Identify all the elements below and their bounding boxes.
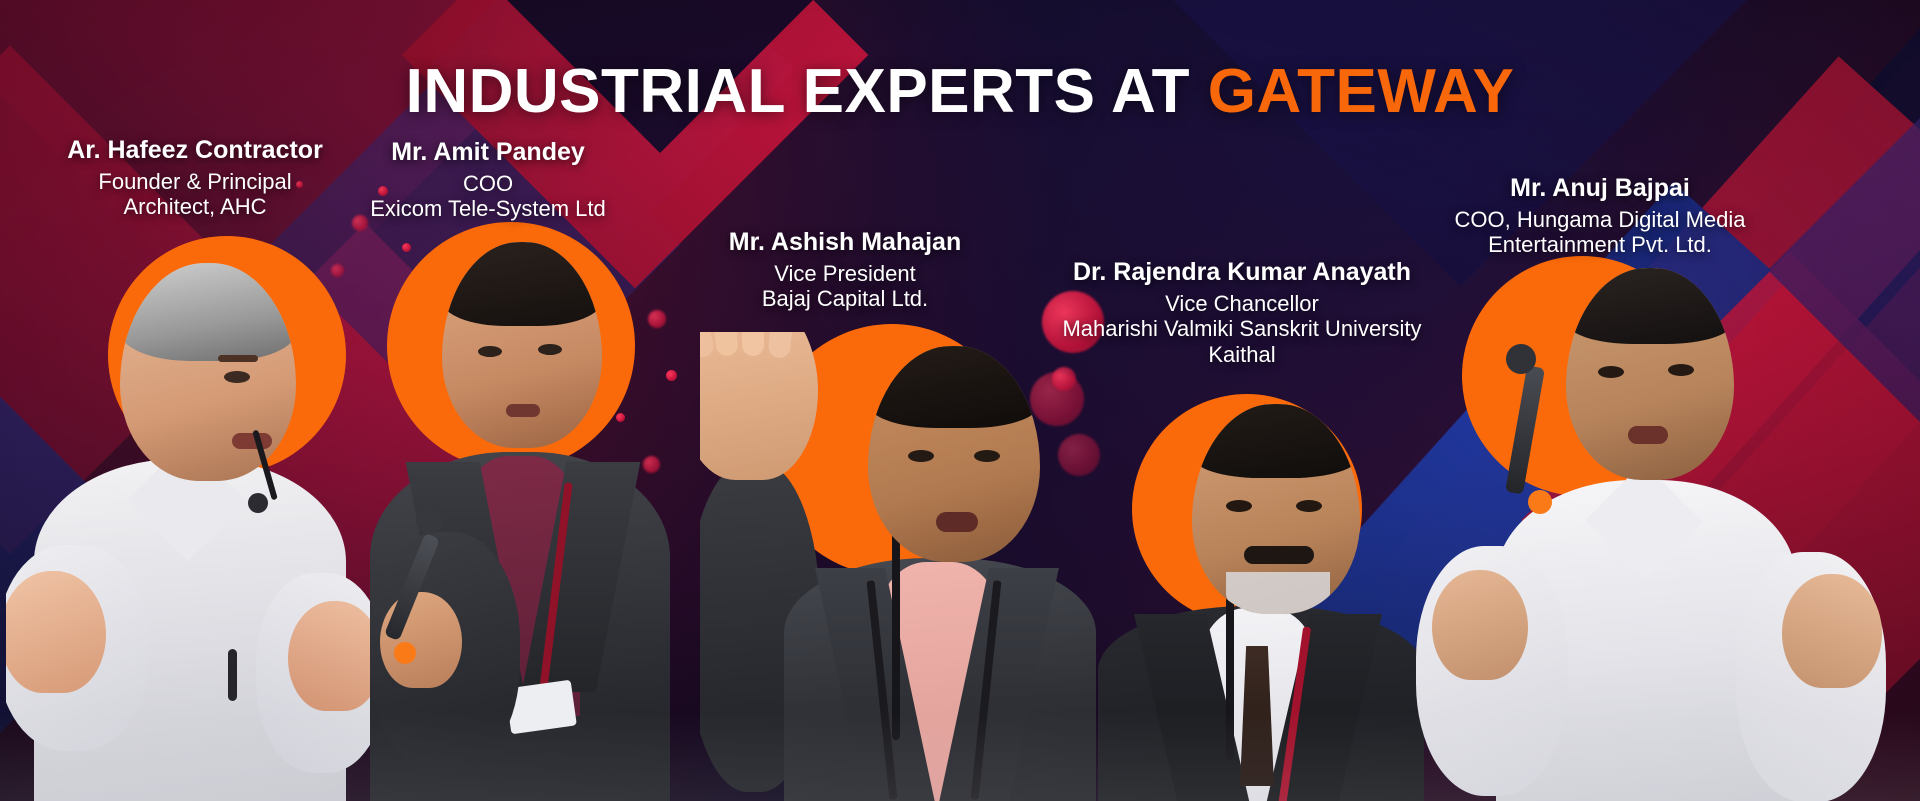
event-banner: INDUSTRIAL EXPERTS AT GATEWAY Ar. Hafeez… bbox=[0, 0, 1920, 801]
photo-microphone-head bbox=[416, 508, 442, 534]
photo-hair bbox=[442, 242, 602, 326]
speaker-name: Mr. Ashish Mahajan bbox=[645, 228, 1045, 258]
speaker-name: Mr. Anuj Bajpai bbox=[1400, 174, 1800, 204]
photo-eye-left bbox=[1598, 366, 1624, 378]
photo-lapel-pen bbox=[228, 649, 237, 701]
speaker-role-line-1: COO bbox=[288, 171, 688, 197]
photo-eye-left bbox=[1226, 500, 1252, 512]
photo-head bbox=[1192, 404, 1360, 614]
photo-hand-right bbox=[1782, 574, 1882, 688]
speaker-role-line-1: Vice Chancellor bbox=[1018, 291, 1466, 317]
speaker-caption-rajendra-kumar-anayath: Dr. Rajendra Kumar Anayath Vice Chancell… bbox=[1018, 258, 1466, 368]
photo-hand-left bbox=[1432, 570, 1528, 680]
banner-title: INDUSTRIAL EXPERTS AT GATEWAY bbox=[0, 56, 1920, 127]
speaker-photo-amit-pandey bbox=[356, 232, 696, 801]
photo-eye-right bbox=[1668, 364, 1694, 376]
speaker-caption-ashish-mahajan: Mr. Ashish Mahajan Vice President Bajaj … bbox=[645, 228, 1045, 312]
photo-mouth bbox=[232, 433, 272, 449]
photo-eye-right bbox=[1296, 500, 1322, 512]
photo-moustache bbox=[1244, 546, 1314, 564]
speaker-photo-rajendra-kumar-anayath bbox=[1064, 400, 1436, 801]
speaker-caption-amit-pandey: Mr. Amit Pandey COO Exicom Tele-System L… bbox=[288, 138, 688, 222]
photo-microphone bbox=[1505, 365, 1545, 494]
speaker-role-line-1: Vice President bbox=[645, 261, 1045, 287]
speaker-name: Mr. Amit Pandey bbox=[288, 138, 688, 168]
photo-mouth bbox=[936, 512, 978, 532]
photo-hand-left bbox=[6, 571, 106, 693]
photo-head bbox=[442, 242, 602, 448]
speaker-role-line-2: Maharishi Valmiki Sanskrit University bbox=[1018, 316, 1466, 342]
speaker-caption-anuj-bajpai: Mr. Anuj Bajpai COO, Hungama Digital Med… bbox=[1400, 174, 1800, 258]
title-accent-text: GATEWAY bbox=[1208, 57, 1515, 126]
photo-hair bbox=[1566, 268, 1734, 344]
speaker-role-line-1: COO, Hungama Digital Media bbox=[1400, 207, 1800, 233]
photo-headset-mic-capsule bbox=[248, 493, 268, 513]
photo-mic-tip bbox=[1528, 490, 1552, 514]
photo-mic-tip bbox=[394, 642, 416, 664]
photo-mouth bbox=[506, 404, 540, 417]
photo-finger bbox=[742, 332, 764, 356]
speaker-role-line-2: Exicom Tele-System Ltd bbox=[288, 196, 688, 222]
photo-eye-left bbox=[908, 450, 934, 462]
speaker-role-line-2: Entertainment Pvt. Ltd. bbox=[1400, 232, 1800, 258]
photo-eye bbox=[224, 371, 250, 383]
photo-head bbox=[1566, 268, 1734, 480]
photo-mouth bbox=[1628, 426, 1668, 444]
photo-head bbox=[868, 346, 1040, 562]
photo-beard bbox=[1226, 572, 1330, 614]
speaker-name: Dr. Rajendra Kumar Anayath bbox=[1018, 258, 1466, 288]
speaker-photo-anuj-bajpai bbox=[1406, 262, 1892, 801]
speaker-role-line-2: Bajaj Capital Ltd. bbox=[645, 286, 1045, 312]
photo-brow bbox=[218, 355, 258, 362]
speaker-role-line-3: Kaithal bbox=[1018, 342, 1466, 368]
photo-eye-right bbox=[974, 450, 1000, 462]
photo-eye-left bbox=[478, 346, 502, 357]
speaker-photo-ashish-mahajan bbox=[700, 332, 1096, 801]
photo-hair bbox=[120, 263, 296, 361]
speaker-photo-hafeez-contractor bbox=[6, 245, 386, 801]
photo-hair bbox=[1192, 404, 1360, 478]
photo-hand-right bbox=[380, 592, 462, 688]
title-main-text: INDUSTRIAL EXPERTS AT bbox=[406, 57, 1208, 126]
photo-head bbox=[120, 263, 296, 481]
photo-microphone-head bbox=[1506, 344, 1536, 374]
photo-eye-right bbox=[538, 344, 562, 355]
photo-hair bbox=[868, 346, 1040, 428]
